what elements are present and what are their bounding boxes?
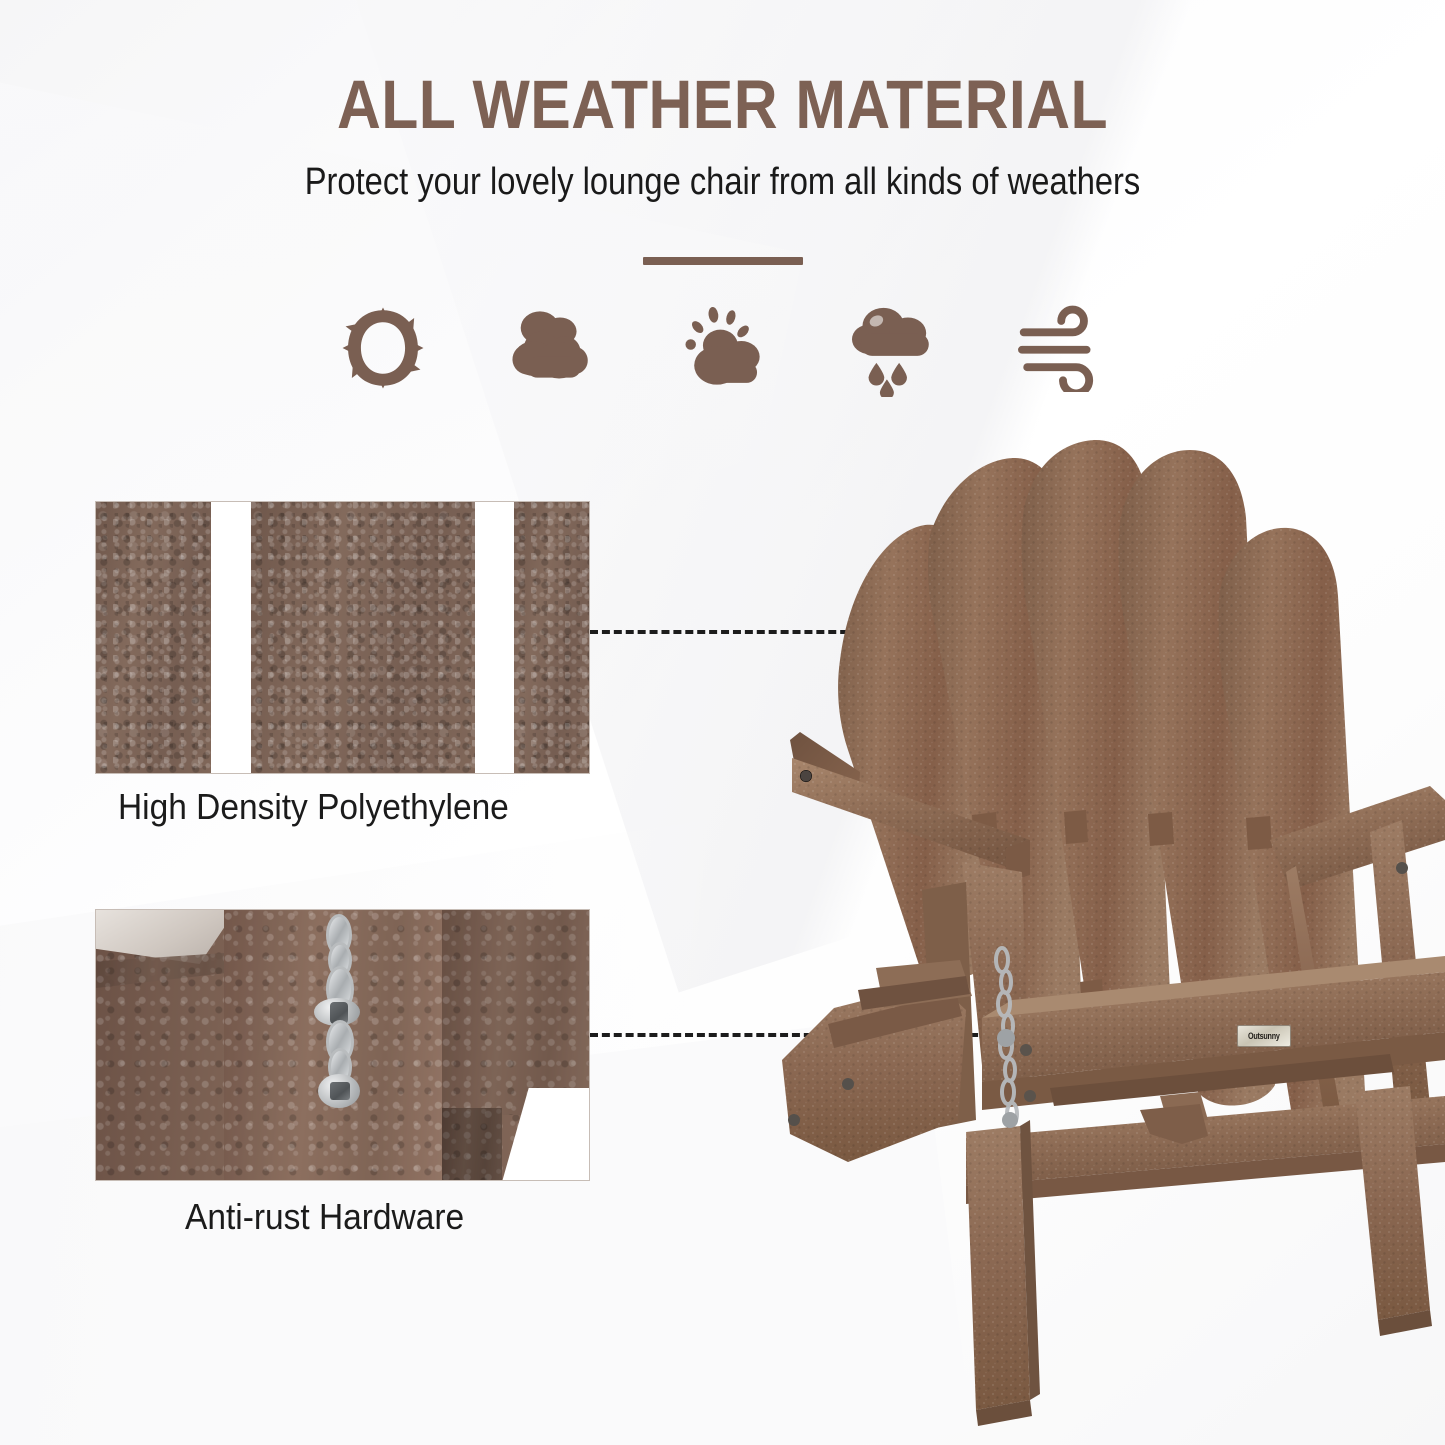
- rain-cloud-icon: [845, 300, 941, 396]
- material-slat: [514, 502, 590, 773]
- sun-icon: [335, 300, 431, 396]
- chain-end-bolt: [330, 1082, 350, 1100]
- partly-cloudy-icon: [675, 300, 771, 396]
- wind-icon: [1015, 300, 1111, 396]
- header-block: ALL WEATHER MATERIAL Protect your lovely…: [0, 70, 1445, 201]
- feature-label-hardware: Anti-rust Hardware: [185, 1196, 464, 1238]
- chain-assembly: [306, 914, 396, 1114]
- feature-image-hardware: [95, 909, 590, 1181]
- page-subtitle: Protect your lovely lounge chair from al…: [101, 163, 1344, 201]
- product-image-adirondack-chair: [730, 420, 1445, 1430]
- feature-label-hdpe: High Density Polyethylene: [118, 786, 509, 828]
- material-gap: [211, 502, 251, 773]
- material-slat: [96, 502, 211, 773]
- feature-image-hdpe: [95, 501, 590, 774]
- title-divider: [643, 257, 803, 265]
- brand-badge: Outsunny: [1237, 1025, 1291, 1047]
- hardware-dark-notch: [442, 1108, 502, 1181]
- infographic-canvas: ALL WEATHER MATERIAL Protect your lovely…: [0, 0, 1445, 1445]
- weather-icon-row: [0, 300, 1445, 396]
- hardware-right-slab: [442, 910, 590, 1115]
- brand-badge-label: Outsunny: [1248, 1031, 1280, 1041]
- material-slat: [251, 502, 475, 773]
- material-gap: [475, 502, 514, 773]
- page-title: ALL WEATHER MATERIAL: [87, 70, 1359, 139]
- cloud-icon: [505, 300, 601, 396]
